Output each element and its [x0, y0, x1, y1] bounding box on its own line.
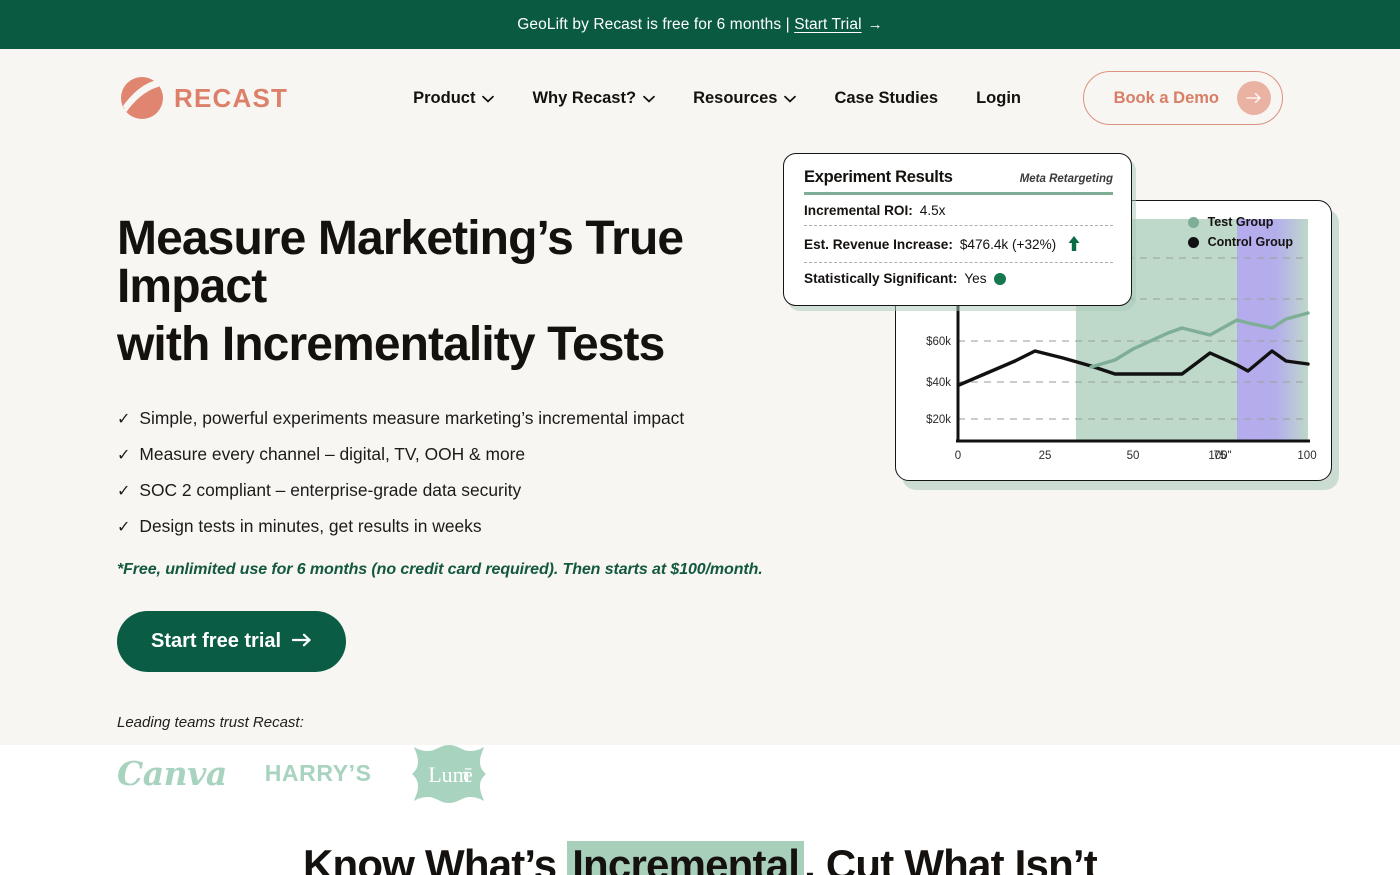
nav-item-case-studies[interactable]: Case Studies: [834, 89, 938, 108]
metric-label: Statistically Significant:: [804, 271, 957, 286]
book-a-demo-label: Book a Demo: [1114, 89, 1219, 108]
section-title-highlight: Incremental: [567, 841, 804, 875]
results-card-header: Experiment Results Meta Retargeting: [804, 168, 1113, 187]
metric-value: $476.4k (+32%): [960, 237, 1056, 252]
metric-value: Yes: [964, 271, 986, 286]
section-title-post: . Cut What Isn’t: [804, 841, 1097, 875]
metric-label: Est. Revenue Increase:: [804, 237, 953, 252]
headline-line-2: with Incrementality Tests: [117, 321, 777, 369]
list-item: ✓ Design tests in minutes, get results i…: [117, 515, 777, 539]
announcement-text: GeoLift by Recast is free for 6 months |: [517, 16, 794, 34]
brand-logo[interactable]: RECAST: [117, 73, 288, 123]
list-item: ✓ Simple, powerful experiments measure m…: [117, 407, 777, 431]
trust-label: Leading teams trust Recast:: [117, 714, 777, 731]
benefits-list: ✓ Simple, powerful experiments measure m…: [117, 407, 777, 539]
nav-item-label: Why Recast?: [532, 89, 636, 108]
list-item: ✓ SOC 2 compliant – enterprise-grade dat…: [117, 479, 777, 503]
chevron-down-icon: [482, 89, 494, 108]
legend-dot-control-group: [1188, 237, 1199, 248]
legend-item-control-group: Control Group: [1188, 235, 1293, 249]
check-icon: ✓: [117, 445, 130, 467]
chart-legend: Test Group Control Group: [1188, 215, 1293, 249]
main-navigation: RECAST Product Why Recast? Resources: [0, 49, 1400, 147]
metric-label: Incremental ROI:: [804, 203, 913, 218]
harrys-logo: HARRY’S: [265, 760, 372, 787]
recast-logo-icon: [117, 73, 167, 123]
check-icon: ✓: [117, 481, 130, 503]
legend-item-test-group: Test Group: [1188, 215, 1293, 229]
check-icon: ✓: [117, 409, 130, 431]
hero-left-column: Measure Marketing’s True Impact with Inc…: [117, 147, 777, 805]
svg-text:0: 0: [955, 450, 961, 462]
metric-value: 4.5x: [920, 203, 946, 218]
book-a-demo-button[interactable]: Book a Demo: [1083, 71, 1283, 125]
nav-item-product[interactable]: Product: [413, 89, 494, 108]
list-item: ✓ Measure every channel – digital, TV, O…: [117, 443, 777, 467]
arrow-right-icon: [292, 630, 312, 653]
status-badge: [994, 273, 1006, 285]
benefit-text: Design tests in minutes, get results in …: [139, 515, 481, 538]
svg-text:75: 75: [1214, 450, 1227, 462]
metric-row-statistical-significance: Statistically Significant: Yes: [804, 263, 1113, 294]
headline-line-1: Measure Marketing’s True Impact: [117, 212, 683, 313]
announcement-bar: GeoLift by Recast is free for 6 months |…: [0, 0, 1400, 49]
nav-right: Book a Demo: [1083, 71, 1283, 125]
svg-text:25: 25: [1039, 450, 1052, 462]
check-icon: ✓: [117, 517, 130, 539]
nav-item-why-recast[interactable]: Why Recast?: [532, 89, 655, 108]
customer-logos: Canva HARRY’S Lum ē: [117, 743, 777, 805]
section-title-pre: Know What’s: [303, 841, 567, 875]
cta-label: Start free trial: [151, 630, 281, 653]
chevron-down-icon: [643, 89, 655, 108]
chevron-down-icon: [784, 89, 796, 108]
section-title: Know What’s Incremental. Cut What Isn’t: [303, 841, 1097, 875]
metric-row-revenue-increase: Est. Revenue Increase: $476.4k (+32%): [804, 226, 1113, 262]
svg-text:100: 100: [1297, 450, 1316, 462]
nav-item-label: Login: [976, 89, 1021, 108]
arrow-up-icon: [1067, 235, 1081, 255]
arrow-right-icon: [1237, 81, 1271, 115]
svg-text:50: 50: [1127, 450, 1140, 462]
nav-item-login[interactable]: Login: [976, 89, 1021, 108]
canva-logo: Canva: [117, 754, 227, 793]
benefit-text: Simple, powerful experiments measure mar…: [139, 407, 684, 430]
page-title: Measure Marketing’s True Impact with Inc…: [117, 215, 777, 369]
lume-logo: Lum ē: [410, 743, 488, 805]
svg-text:$20k: $20k: [926, 414, 951, 426]
announcement-start-trial-link[interactable]: Start Trial: [794, 16, 861, 34]
brand-name: RECAST: [174, 83, 288, 114]
hero-body: Measure Marketing’s True Impact with Inc…: [0, 147, 1400, 805]
svg-text:ē: ē: [463, 762, 473, 787]
svg-text:$60k: $60k: [926, 336, 951, 348]
legend-label: Control Group: [1208, 235, 1293, 249]
start-free-trial-button[interactable]: Start free trial: [117, 611, 346, 672]
hero-section: RECAST Product Why Recast? Resources: [0, 49, 1400, 745]
results-card-title: Experiment Results: [804, 168, 953, 187]
results-card-subtitle: Meta Retargeting: [1020, 173, 1113, 185]
nav-links: Product Why Recast? Resources Case Studi…: [413, 89, 1021, 108]
benefit-text: SOC 2 compliant – enterprise-grade data …: [139, 479, 521, 502]
nav-item-label: Resources: [693, 89, 777, 108]
experiment-results-card: Experiment Results Meta Retargeting Incr…: [783, 153, 1132, 306]
legend-dot-test-group: [1188, 217, 1199, 228]
benefit-text: Measure every channel – digital, TV, OOH…: [139, 443, 525, 466]
legend-label: Test Group: [1208, 215, 1274, 229]
pricing-note: *Free, unlimited use for 6 months (no cr…: [117, 561, 777, 579]
arrow-right-icon: →: [868, 16, 883, 33]
metric-row-incremental-roi: Incremental ROI: 4.5x: [804, 195, 1113, 226]
hero-right-column: $60k $40k $20k 0 25 50 100" · 75 100: [777, 147, 1283, 805]
nav-item-label: Product: [413, 89, 475, 108]
nav-item-label: Case Studies: [834, 89, 938, 108]
svg-text:$40k: $40k: [926, 377, 951, 389]
nav-item-resources[interactable]: Resources: [693, 89, 796, 108]
